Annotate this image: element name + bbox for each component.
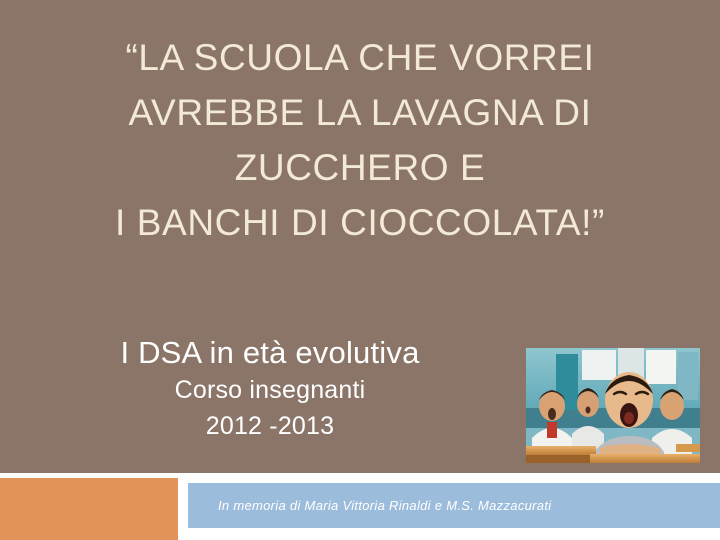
footer-dedication-text: In memoria di Maria Vittoria Rinaldi e M… <box>218 483 551 528</box>
footer-bar: In memoria di Maria Vittoria Rinaldi e M… <box>188 483 720 528</box>
slide-subtitle: I DSA in età evolutiva Corso insegnanti … <box>60 334 480 444</box>
subtitle-course-line: Corso insegnanti <box>60 372 480 408</box>
title-line-1: “LA SCUOLA CHE VORREI <box>40 30 680 85</box>
accent-block-orange <box>0 478 178 540</box>
classroom-photo <box>526 348 700 463</box>
slide-title: “LA SCUOLA CHE VORREI AVREBBE LA LAVAGNA… <box>40 30 680 250</box>
classroom-photo-image <box>526 348 700 463</box>
subtitle-years-line: 2012 -2013 <box>60 408 480 444</box>
title-line-2: AVREBBE LA LAVAGNA DI <box>40 85 680 140</box>
presentation-slide: “LA SCUOLA CHE VORREI AVREBBE LA LAVAGNA… <box>0 0 720 540</box>
title-line-4: I BANCHI DI CIOCCOLATA!” <box>40 195 680 250</box>
subtitle-main-line: I DSA in età evolutiva <box>60 334 480 372</box>
title-line-3: ZUCCHERO E <box>40 140 680 195</box>
